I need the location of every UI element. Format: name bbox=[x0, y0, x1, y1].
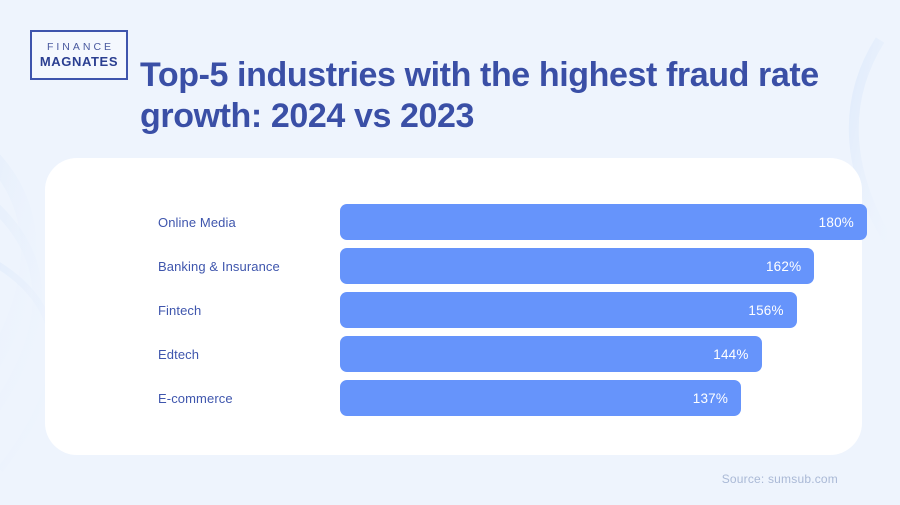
bar-value-label: 162% bbox=[766, 259, 814, 274]
chart-row: Banking & Insurance162% bbox=[158, 248, 862, 284]
chart-card: Online Media180%Banking & Insurance162%F… bbox=[45, 158, 862, 455]
bar: 162% bbox=[340, 248, 814, 284]
bar-track: 137% bbox=[340, 380, 862, 416]
logo-line-finance: FINANCE bbox=[44, 41, 114, 54]
bar-track: 156% bbox=[340, 292, 862, 328]
bar: 144% bbox=[340, 336, 762, 372]
bar: 156% bbox=[340, 292, 797, 328]
bar-value-label: 144% bbox=[713, 347, 761, 362]
bar-value-label: 180% bbox=[819, 215, 867, 230]
bar-category-label: E-commerce bbox=[158, 391, 340, 406]
bar-value-label: 137% bbox=[693, 391, 741, 406]
bar-track: 162% bbox=[340, 248, 862, 284]
bar-chart: Online Media180%Banking & Insurance162%F… bbox=[45, 158, 862, 455]
bar-track: 144% bbox=[340, 336, 862, 372]
chart-row: Fintech156% bbox=[158, 292, 862, 328]
bar-category-label: Fintech bbox=[158, 303, 340, 318]
bar-category-label: Banking & Insurance bbox=[158, 259, 340, 274]
chart-row: E-commerce137% bbox=[158, 380, 862, 416]
bar: 137% bbox=[340, 380, 741, 416]
bar-category-label: Online Media bbox=[158, 215, 340, 230]
bar-value-label: 156% bbox=[748, 303, 796, 318]
bar-track: 180% bbox=[340, 204, 862, 240]
page-title: Top-5 industries with the highest fraud … bbox=[140, 55, 840, 138]
source-attribution: Source: sumsub.com bbox=[722, 472, 838, 486]
brand-logo: FINANCE MAGNATES bbox=[30, 30, 128, 80]
logo-line-magnates: MAGNATES bbox=[40, 54, 118, 70]
chart-row: Edtech144% bbox=[158, 336, 862, 372]
bar-category-label: Edtech bbox=[158, 347, 340, 362]
chart-row: Online Media180% bbox=[158, 204, 862, 240]
bar: 180% bbox=[340, 204, 867, 240]
